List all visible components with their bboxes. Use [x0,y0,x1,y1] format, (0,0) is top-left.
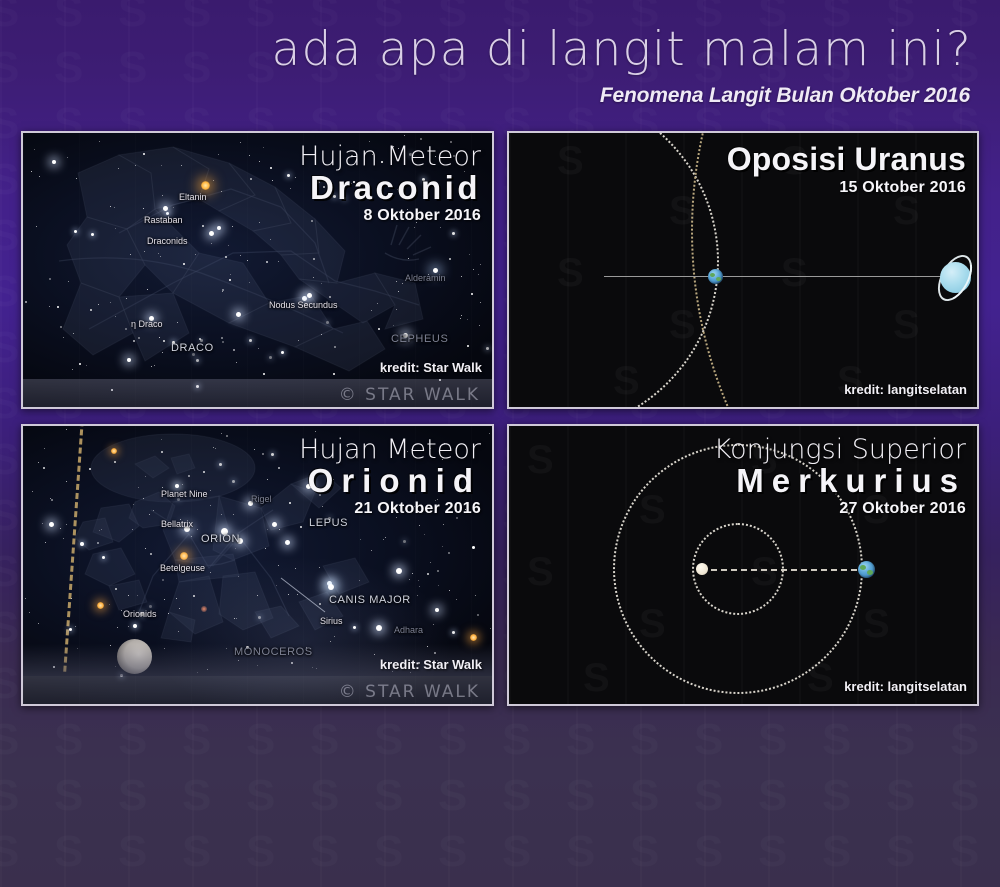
star [249,339,252,342]
earth-landmass [710,273,715,277]
star [414,227,415,228]
star [34,149,35,150]
star [222,291,223,292]
star [110,302,111,303]
star [313,258,315,260]
s-watermark: S [527,552,554,592]
label-cepheus: CEPHEUS [391,333,448,345]
star [90,309,92,311]
star [249,155,250,156]
page-title: ada apa di langit malam ini? [272,22,972,77]
star [79,363,81,365]
star [86,365,87,366]
star [480,302,481,303]
star [378,328,380,330]
star [259,161,260,162]
star [49,278,51,280]
star [321,283,322,284]
background-s-glyph: S [0,662,19,706]
star [329,296,331,298]
star [326,321,329,324]
star [298,340,299,341]
mercury [696,563,708,575]
star [163,340,165,342]
star [49,306,50,307]
star [396,281,397,282]
star [287,174,290,177]
star [408,258,409,259]
star [162,195,163,196]
star [371,310,372,311]
star [249,282,250,283]
star [250,178,252,180]
star [127,358,131,362]
panel-merkurius-title-block: Konjungsi Superior Merkurius 27 Oktober … [714,436,966,519]
panel-orionid-date: 21 Oktober 2016 [299,499,481,519]
star [221,337,223,339]
star [25,301,27,303]
star [270,167,272,169]
sun [717,541,773,597]
star [162,352,163,353]
star [281,351,284,354]
star [60,326,62,328]
label-orion: ORION [201,533,240,545]
star [240,255,241,256]
panel-merkurius-date: 27 Oktober 2016 [714,499,966,519]
star-rastaban [163,206,168,211]
star [473,269,474,270]
label-canis-major: CANIS MAJOR [329,594,411,606]
star [229,279,231,281]
panel-orionid-content: Planet Nine Rigel Bellatrix ORION LEPUS … [23,426,492,704]
star [213,180,214,181]
label-eltanin: Eltanin [179,192,207,202]
panel-draconid-date: 8 Oktober 2016 [299,206,481,226]
panel-merkurius-content: S S S S S S S S S S Konjungsi Superio [509,426,977,704]
star [480,264,481,265]
star [114,207,115,208]
star [232,226,233,227]
label-bellatrix: Bellatrix [161,519,193,529]
star [471,293,473,295]
panel-draconid-title-line2: Draconid [299,171,481,206]
star [57,306,59,308]
star [98,304,99,305]
uranus-ring-front [931,249,977,306]
panel-orionid-credit: kredit: Star Walk [380,657,482,672]
star [202,225,204,227]
label-betelgeuse: Betelgeuse [160,563,205,573]
star [110,206,111,207]
star [158,253,159,254]
panel-uranus-credit: kredit: langitselatan [844,382,967,397]
star [147,289,148,290]
star [39,176,40,177]
star [230,274,231,275]
panel-merkurius-title-line2: Merkurius [714,464,966,499]
background-s-glyph: S [0,214,19,258]
star [467,319,468,320]
panel-orionid-title-block: Hujan Meteor Orionid 21 Oktober 2016 [299,436,481,519]
label-orionids: Orionids [123,609,157,619]
star [144,251,145,252]
star [221,191,222,192]
star [469,254,470,255]
opposition-alignment-line [604,276,954,277]
panel-uranus-title-block: Oposisi Uranus 15 Oktober 2016 [727,143,966,198]
star-nodus-secundus [307,293,312,298]
star [125,328,127,330]
star [115,316,116,317]
label-rigel: Rigel [251,494,272,504]
star [393,325,394,326]
background-s-glyph: S [0,158,19,202]
star [161,165,162,166]
star [240,142,241,143]
star [76,178,77,179]
earth-landmass [716,277,721,281]
star [99,141,100,142]
star [143,208,144,209]
star [258,348,259,349]
star [396,309,397,310]
starwalk-watermark: © STAR WALK [339,385,480,405]
label-monoceros: MONOCEROS [234,646,313,658]
background-s-glyph: S [0,494,19,538]
star [486,347,489,350]
star [263,147,264,148]
star [259,222,260,223]
star [68,281,69,282]
star [67,157,68,158]
star [211,243,212,244]
star [263,373,265,375]
earth-landmass [867,570,873,575]
star [143,153,145,155]
label-draco: DRACO [171,342,214,354]
background-s-glyph: S [0,382,19,426]
star [461,276,462,277]
panel-orionid-title-line1: Hujan Meteor [299,436,481,464]
star [31,171,32,172]
s-watermark: S [583,658,610,698]
star [181,165,182,166]
star [272,180,273,181]
star [228,245,229,246]
background-s-glyph: S [0,550,19,594]
panel-merkurius[interactable]: S S S S S S S S S S Konjungsi Superio [507,424,979,706]
label-eta-draco: η Draco [131,319,163,329]
star [183,263,185,265]
star [313,277,314,278]
star [295,177,296,178]
poster-root: SSSSSSSSSSSSSSSSSSSSSSSSSSSSSSSSSSSSSSSS… [0,0,1000,887]
star [461,315,462,316]
star-draconids-radiant [209,231,214,236]
panel-merkurius-title-line1: Konjungsi Superior [714,436,966,464]
star [133,340,135,342]
star [236,362,237,363]
s-watermark: S [527,440,554,480]
star [91,233,94,236]
star [270,239,271,240]
star [321,334,322,335]
star [467,345,469,347]
star [222,341,224,343]
star [266,261,268,263]
panel-uranus-date: 15 Oktober 2016 [727,178,966,198]
star [402,283,403,284]
star [74,230,77,233]
background-s-glyph: S [0,438,19,482]
star [195,254,196,255]
star [138,337,140,339]
star [151,366,152,367]
star [72,369,73,370]
uranus-group [927,250,977,306]
panel-orionid-title-line2: Orionid [299,464,481,499]
star [404,135,405,136]
star [269,356,272,359]
header: ada apa di langit malam ini? Fenomena La… [0,0,1000,122]
star [225,256,227,258]
sun [559,243,625,309]
earth [858,561,875,578]
star [440,227,441,228]
star [290,188,291,189]
label-sirius: Sirius [320,616,343,626]
panel-draconid-title-line1: Hujan Meteor [299,143,481,171]
panel-draconid-content: Eltanin Rastaban Draconids Nodus Secundu… [23,133,492,407]
star [154,365,155,366]
label-alderamin: Alderamin [405,273,446,283]
star [479,325,480,326]
star [449,258,451,260]
panel-draconid[interactable]: Eltanin Rastaban Draconids Nodus Secundu… [21,131,494,409]
label-nodus-secundus: Nodus Secundus [269,300,338,310]
star [333,373,335,375]
star [159,337,160,338]
star [115,228,116,229]
star-eltanin [201,181,210,190]
star [196,359,199,362]
panel-draconid-credit: kredit: Star Walk [380,360,482,375]
star [377,303,378,304]
panel-draconid-title-block: Hujan Meteor Draconid 8 Oktober 2016 [299,143,481,226]
star [135,165,136,166]
label-draconids: Draconids [147,236,188,246]
star [199,338,201,340]
star [460,318,461,319]
background-s-glyph: S [0,606,19,650]
star [452,232,455,235]
label-adhara: Adhara [394,625,423,635]
star [236,312,241,317]
star [218,154,219,155]
star [173,207,174,208]
star [478,274,479,275]
star [278,261,279,262]
footer: LANGITSELATAN #Media Astronomi Indonesia… [0,714,1000,887]
star [177,322,178,323]
starwalk-watermark: © STAR WALK [339,682,480,702]
star [130,254,131,255]
star [160,256,161,257]
star [52,160,56,164]
star [334,346,336,348]
star [420,138,422,140]
panel-uranus-content: S S S S S S S S S S [509,133,977,407]
star [118,168,119,169]
label-rastaban: Rastaban [144,215,183,225]
star [398,291,399,292]
panel-orionid[interactable]: Planet Nine Rigel Bellatrix ORION LEPUS … [21,424,494,706]
page-subtitle: Fenomena Langit Bulan Oktober 2016 [600,84,970,108]
background-s-glyph: S [0,270,19,314]
label-planet-nine: Planet Nine [161,489,208,499]
star [217,226,221,230]
star [36,226,37,227]
s-watermark: S [863,604,890,644]
star [233,349,235,351]
earth-landmass [860,565,866,570]
star [247,260,248,261]
star [63,337,64,338]
star [73,333,74,334]
earth [708,269,723,284]
panel-merkurius-credit: kredit: langitselatan [844,679,967,694]
panel-uranus-title-line1: Oposisi Uranus [727,143,966,177]
panel-uranus[interactable]: S S S S S S S S S S [507,131,979,409]
star [126,298,127,299]
background-s-glyph: S [0,326,19,370]
